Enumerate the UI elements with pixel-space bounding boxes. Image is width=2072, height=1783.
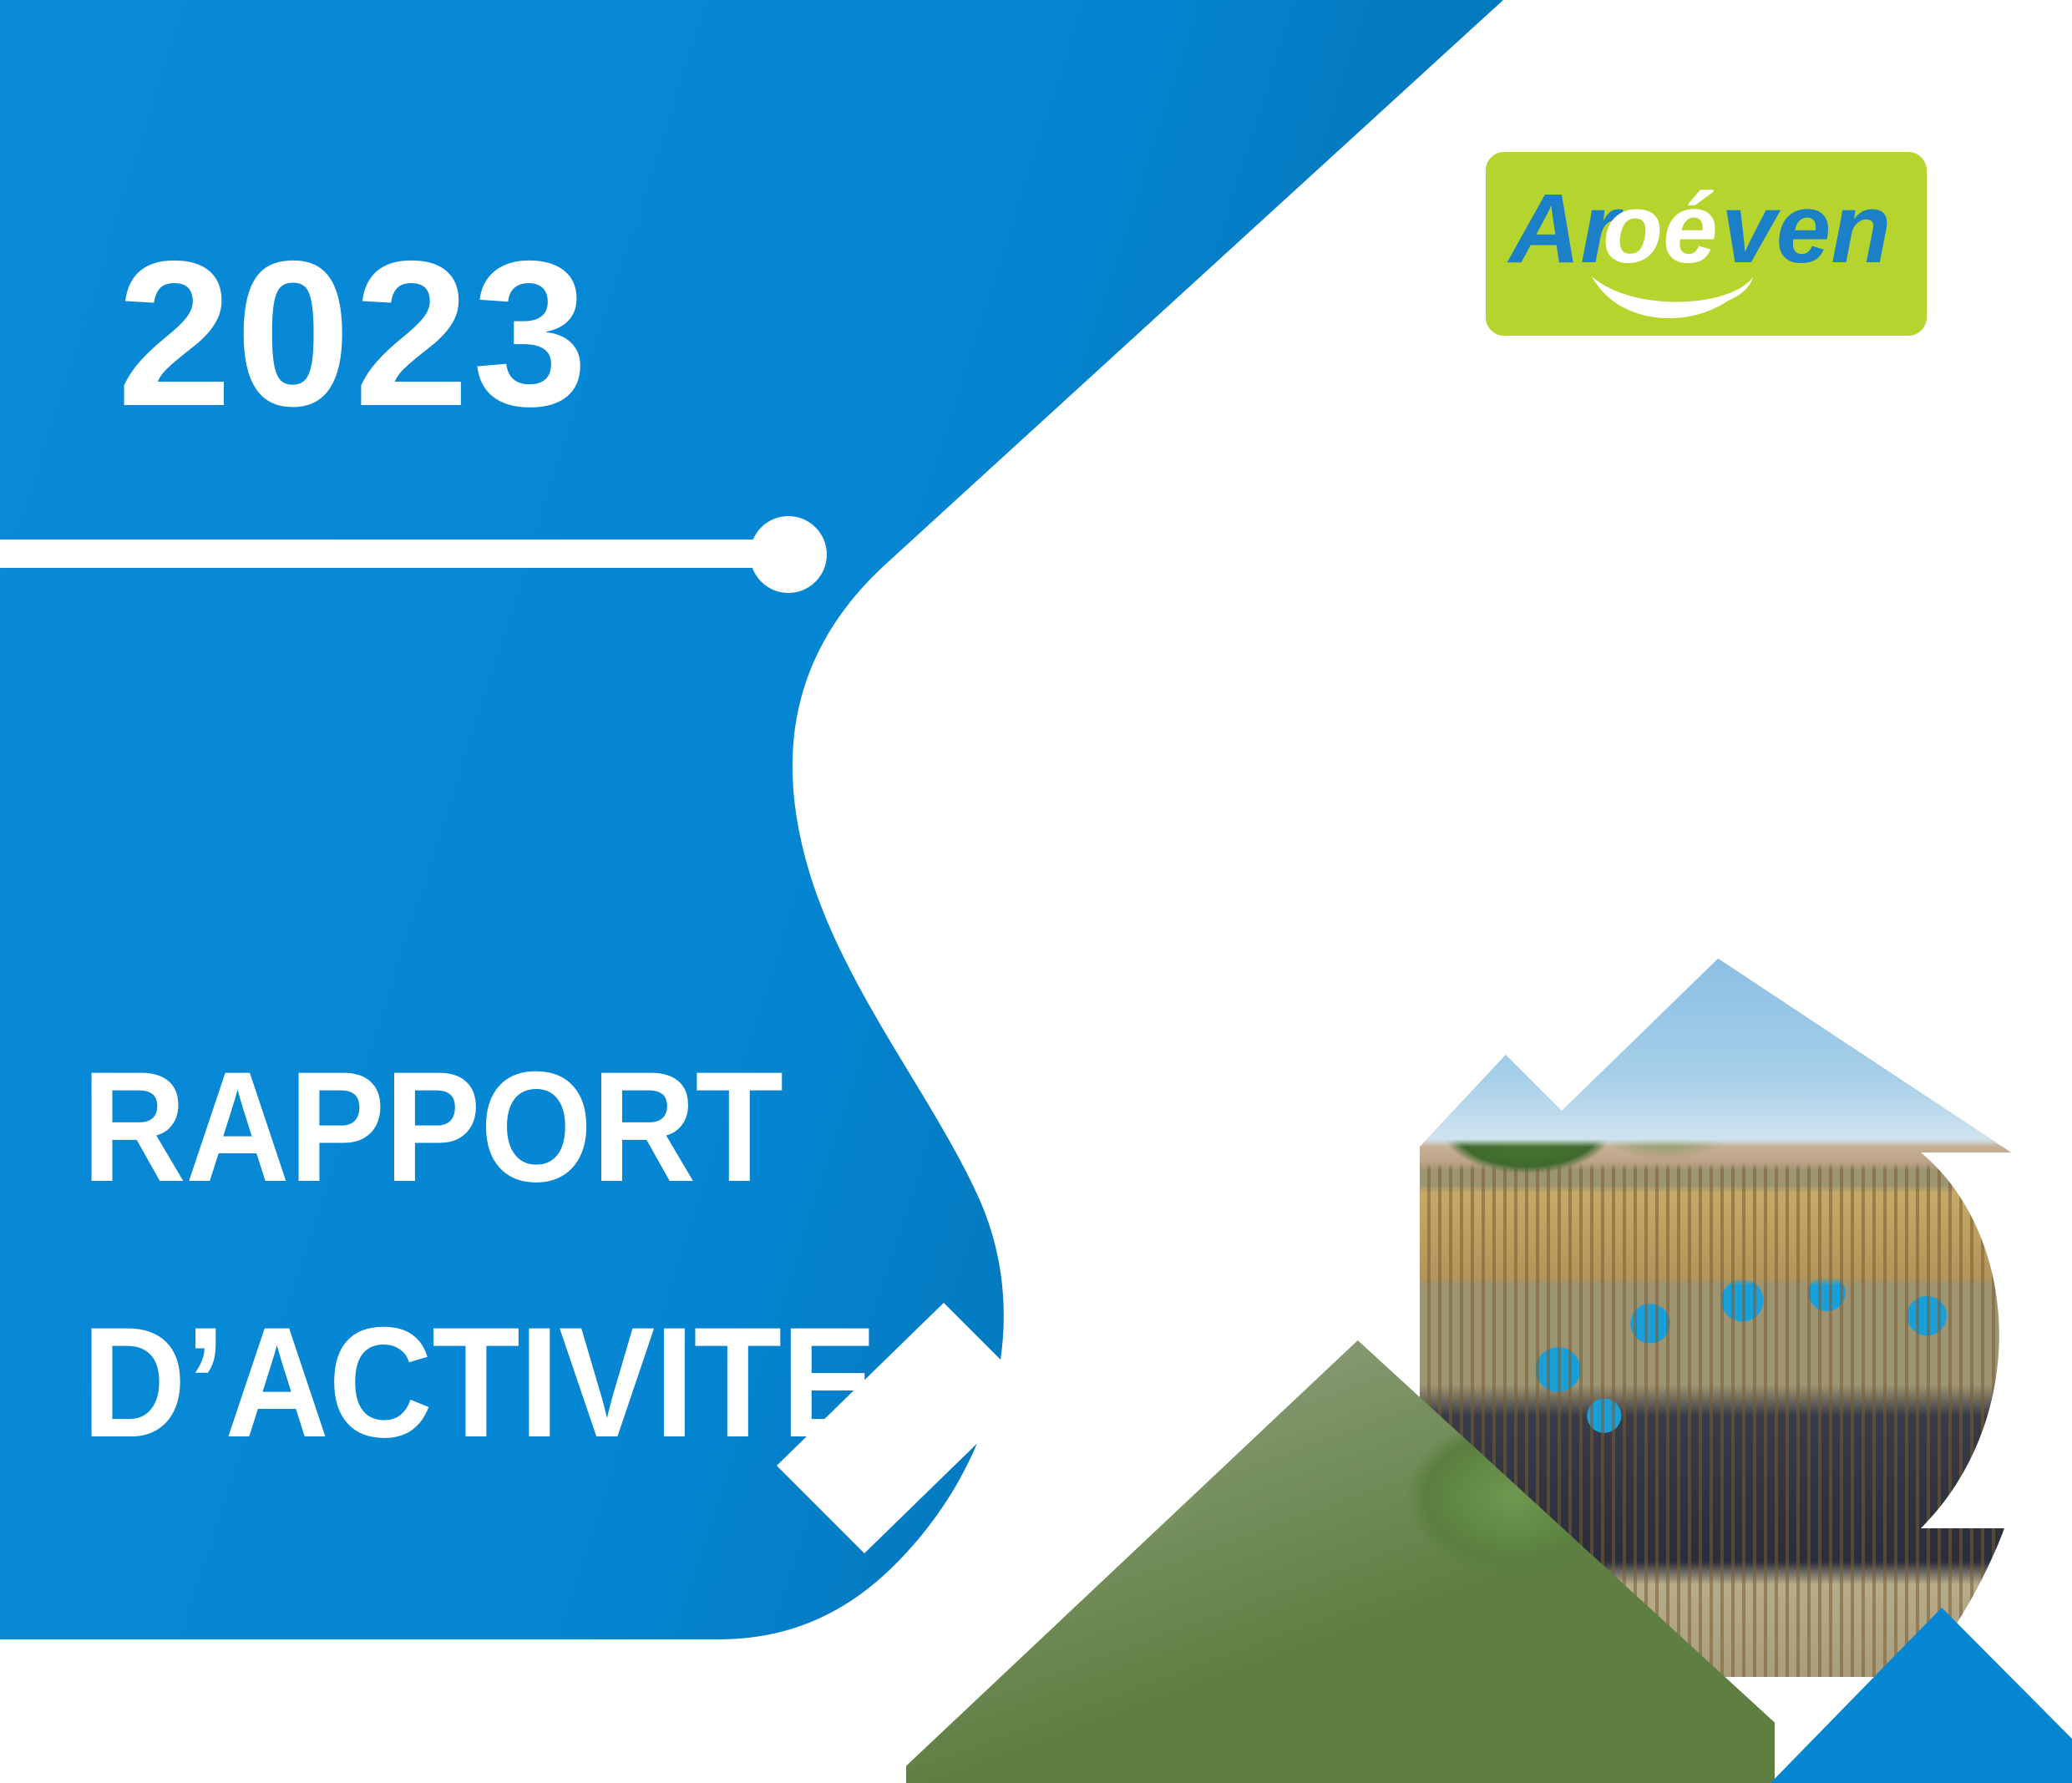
aroeven-logo[interactable]: Ar oé ven	[1486, 152, 1927, 336]
report-cover-page: 2023 RAPPORT D’ACTIVITE Vue de dessus d'…	[0, 0, 2072, 1783]
aroeven-logo-mark: Ar oé ven	[1486, 152, 1927, 336]
page-title-line-1: RAPPORT	[82, 1048, 989, 1205]
page-title-line-2: D’ACTIVITE	[82, 1304, 989, 1461]
cover-year: 2023	[117, 230, 591, 437]
decorative-rule	[0, 539, 785, 568]
aroeven-logo-text-blue-2: ven	[1721, 174, 1891, 284]
aroeven-logo-text-white: oé	[1603, 174, 1718, 284]
decorative-rule-dot	[750, 516, 827, 593]
page-title: RAPPORT D’ACTIVITE	[82, 1048, 1067, 1461]
